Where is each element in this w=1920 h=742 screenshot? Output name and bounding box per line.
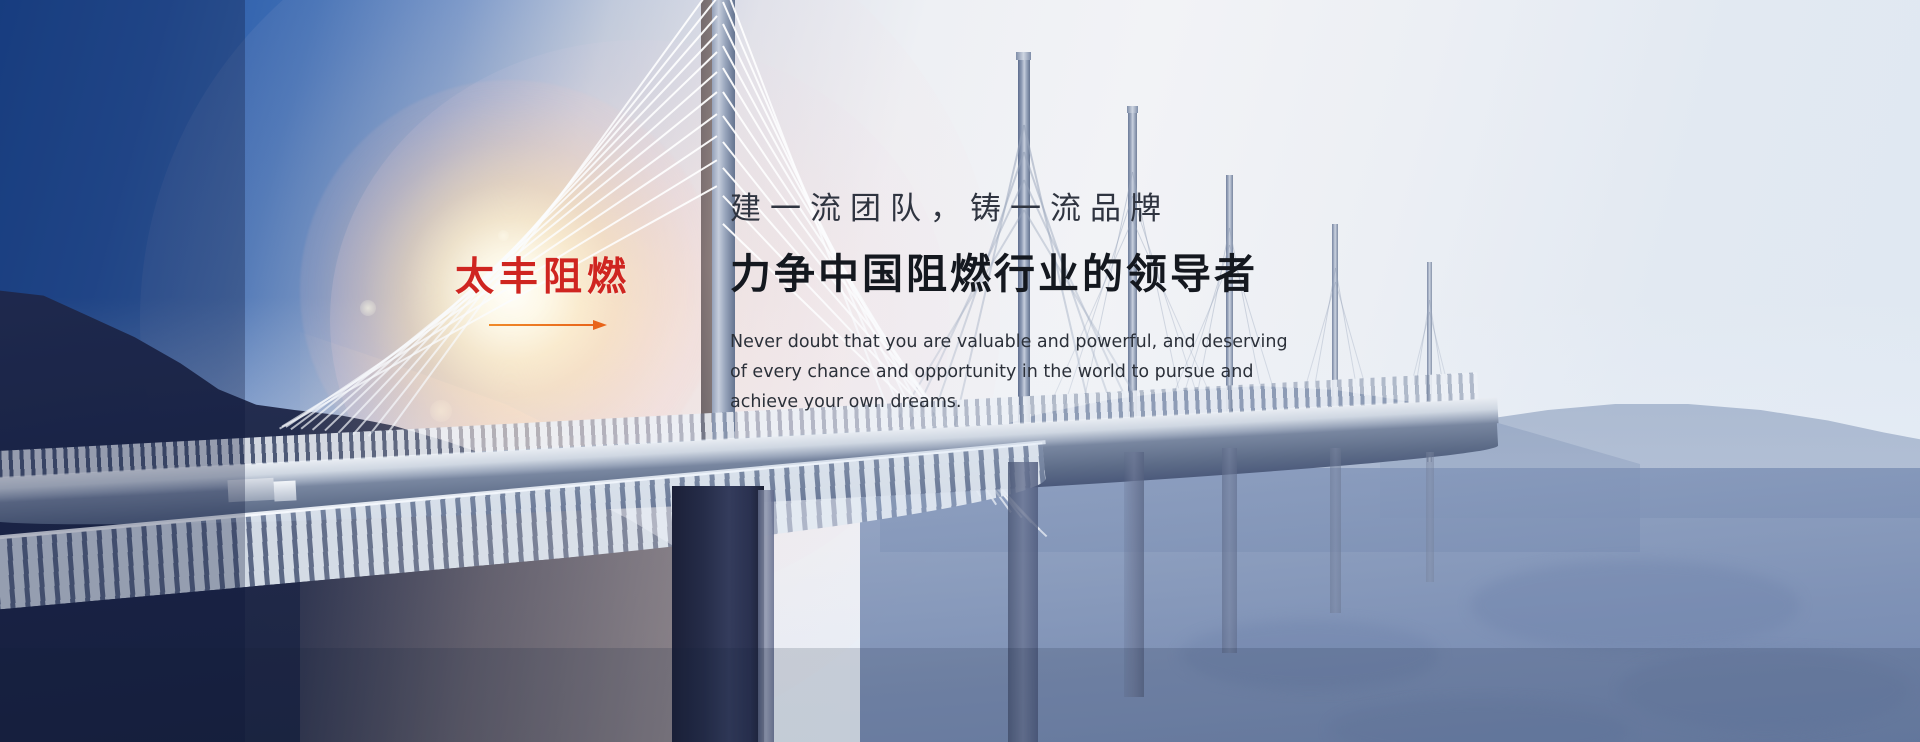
headline-title: 力争中国阻燃行业的领导者 [730,251,1450,298]
brand-logo[interactable]: 太丰阻燃 [455,258,655,331]
brand-logo-text: 太丰阻燃 [455,258,655,297]
headline-block: 建一流团队，铸一流品牌 力争中国阻燃行业的领导者 Never doubt tha… [730,192,1450,418]
arrow-shaft [489,324,593,326]
description-paragraph: Never doubt that you are valuable and po… [730,327,1305,417]
description-line: of every chance and opportunity in the w… [730,357,1305,387]
description-line: achieve your own dreams. [730,387,1305,417]
arrow-head [593,320,607,330]
hero-banner: 太丰阻燃 建一流团队，铸一流品牌 力争中国阻燃行业的领导者 Never doub… [0,0,1920,742]
description-line: Never doubt that you are valuable and po… [730,327,1305,357]
arrow-right-icon [489,319,607,331]
banner-content: 太丰阻燃 建一流团队，铸一流品牌 力争中国阻燃行业的领导者 Never doub… [0,0,1920,742]
headline-subtitle: 建一流团队，铸一流品牌 [730,192,1450,226]
